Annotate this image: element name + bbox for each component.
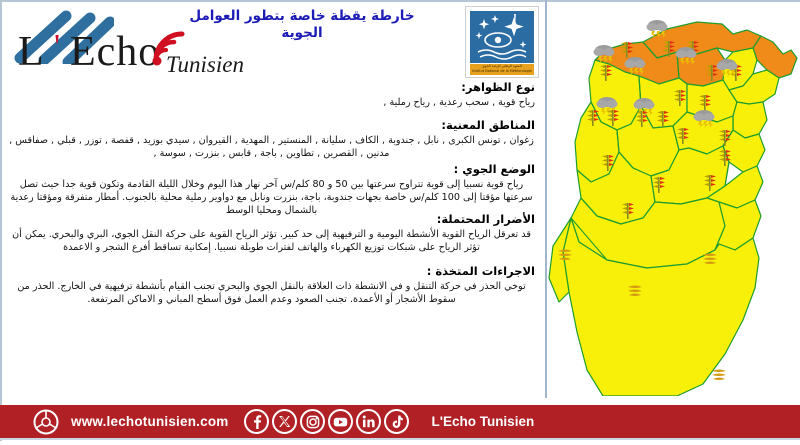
map-svg	[547, 2, 800, 396]
section-situation: الوضع الجوي : رياح قوية نسبيا إلى قوية ت…	[8, 162, 535, 217]
section-damage-body: قد تعرقل الرياح القوية الأنشطة اليومية و…	[8, 228, 535, 254]
globe-icon[interactable]	[33, 409, 59, 435]
frame-bottom-border	[0, 438, 800, 440]
tiktok-icon[interactable]	[384, 409, 409, 434]
section-phenomena-body: رياح قوية , سحب رعدية , رياح رملية ,	[8, 96, 535, 109]
logo-apostrophe: '	[54, 28, 60, 66]
info-panel: L ' Echo Tunisien خارطة يقظة خاصة بتطور …	[2, 2, 545, 395]
social-links	[244, 409, 409, 434]
page-title-line1: خارطة يقظة خاصة بتطور العوامل	[152, 8, 452, 25]
footer-bar: www.lechotunisien.com L'Echo Tunisien	[0, 405, 800, 438]
inm-caption-fr: Institut National de la Météorologie	[470, 69, 534, 74]
logo-word-tunisien: Tunisien	[166, 52, 244, 78]
section-damage: الأضرار المحتملة: قد تعرقل الرياح القوية…	[8, 212, 535, 254]
logo-letter-l: L	[18, 28, 45, 76]
facebook-icon[interactable]	[244, 409, 269, 434]
website-url[interactable]: www.lechotunisien.com	[71, 414, 228, 429]
section-damage-heading: الأضرار المحتملة:	[8, 212, 535, 227]
x-twitter-icon[interactable]	[272, 409, 297, 434]
tunisia-vigilance-map	[547, 2, 800, 396]
inm-emblem-icon	[470, 11, 534, 63]
inm-logo: المعهد الوطني للرصد الجوي Institut Natio…	[465, 6, 539, 78]
page-title: خارطة يقظة خاصة بتطور العوامل الجوية	[152, 8, 452, 42]
section-regions: المناطق المعنية: زغوان , تونس الكبرى , ن…	[8, 118, 535, 160]
section-phenomena: نوع الظواهر: رياح قوية , سحب رعدية , ريا…	[8, 80, 535, 109]
page-title-line2: الجوية	[152, 25, 452, 42]
frame-bottom-fill	[0, 441, 800, 445]
inm-caption: المعهد الوطني للرصد الجوي Institut Natio…	[470, 64, 534, 75]
youtube-icon[interactable]	[328, 409, 353, 434]
section-measures-body: توخي الحذر في حركة التنقل و في الانشطة ذ…	[8, 280, 535, 306]
linkedin-icon[interactable]	[356, 409, 381, 434]
section-measures-heading: الاجراءات المتخذة :	[8, 264, 535, 279]
brand-name: L'Echo Tunisien	[431, 414, 534, 429]
instagram-icon[interactable]	[300, 409, 325, 434]
section-situation-heading: الوضع الجوي :	[8, 162, 535, 177]
section-phenomena-heading: نوع الظواهر:	[8, 80, 535, 95]
section-regions-heading: المناطق المعنية:	[8, 118, 535, 133]
section-measures: الاجراءات المتخذة : توخي الحذر في حركة ا…	[8, 264, 535, 306]
section-regions-body: زغوان , تونس الكبرى , نابل , جندوبة , ال…	[8, 134, 535, 160]
poster-root: L ' Echo Tunisien خارطة يقظة خاصة بتطور …	[0, 0, 800, 445]
logo-word-echo: Echo	[70, 28, 160, 76]
